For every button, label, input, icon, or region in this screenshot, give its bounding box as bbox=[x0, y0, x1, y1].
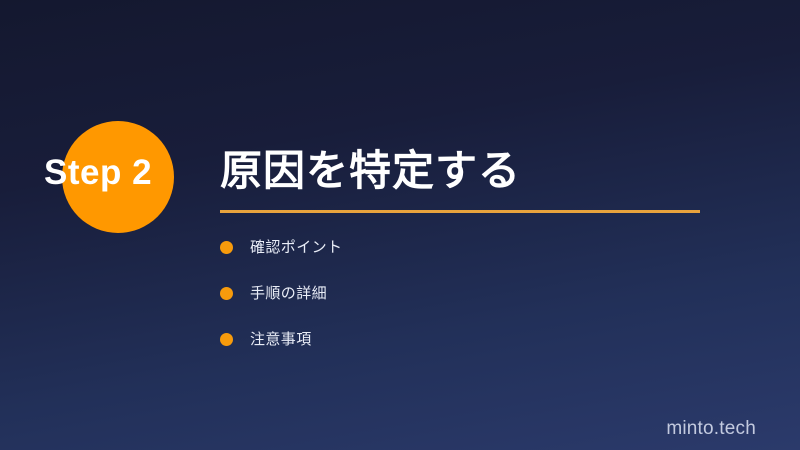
slide-title: 原因を特定する bbox=[220, 145, 521, 197]
bullet-dot-icon bbox=[220, 333, 233, 346]
title-divider bbox=[220, 210, 700, 213]
list-item: 手順の詳細 bbox=[220, 286, 700, 332]
list-item: 確認ポイント bbox=[220, 240, 700, 286]
list-item-label: 手順の詳細 bbox=[250, 286, 327, 302]
bullet-list: 確認ポイント 手順の詳細 注意事項 bbox=[220, 240, 700, 378]
bullet-dot-icon bbox=[220, 241, 233, 254]
footer-watermark: minto.tech bbox=[666, 418, 756, 440]
bullet-dot-icon bbox=[220, 287, 233, 300]
step-badge-label: Step 2 bbox=[44, 152, 214, 194]
list-item-label: 確認ポイント bbox=[250, 240, 342, 256]
presentation-slide: Step 2 原因を特定する 確認ポイント 手順の詳細 注意事項 minto.t… bbox=[0, 0, 800, 450]
list-item: 注意事項 bbox=[220, 332, 700, 378]
list-item-label: 注意事項 bbox=[250, 332, 312, 348]
